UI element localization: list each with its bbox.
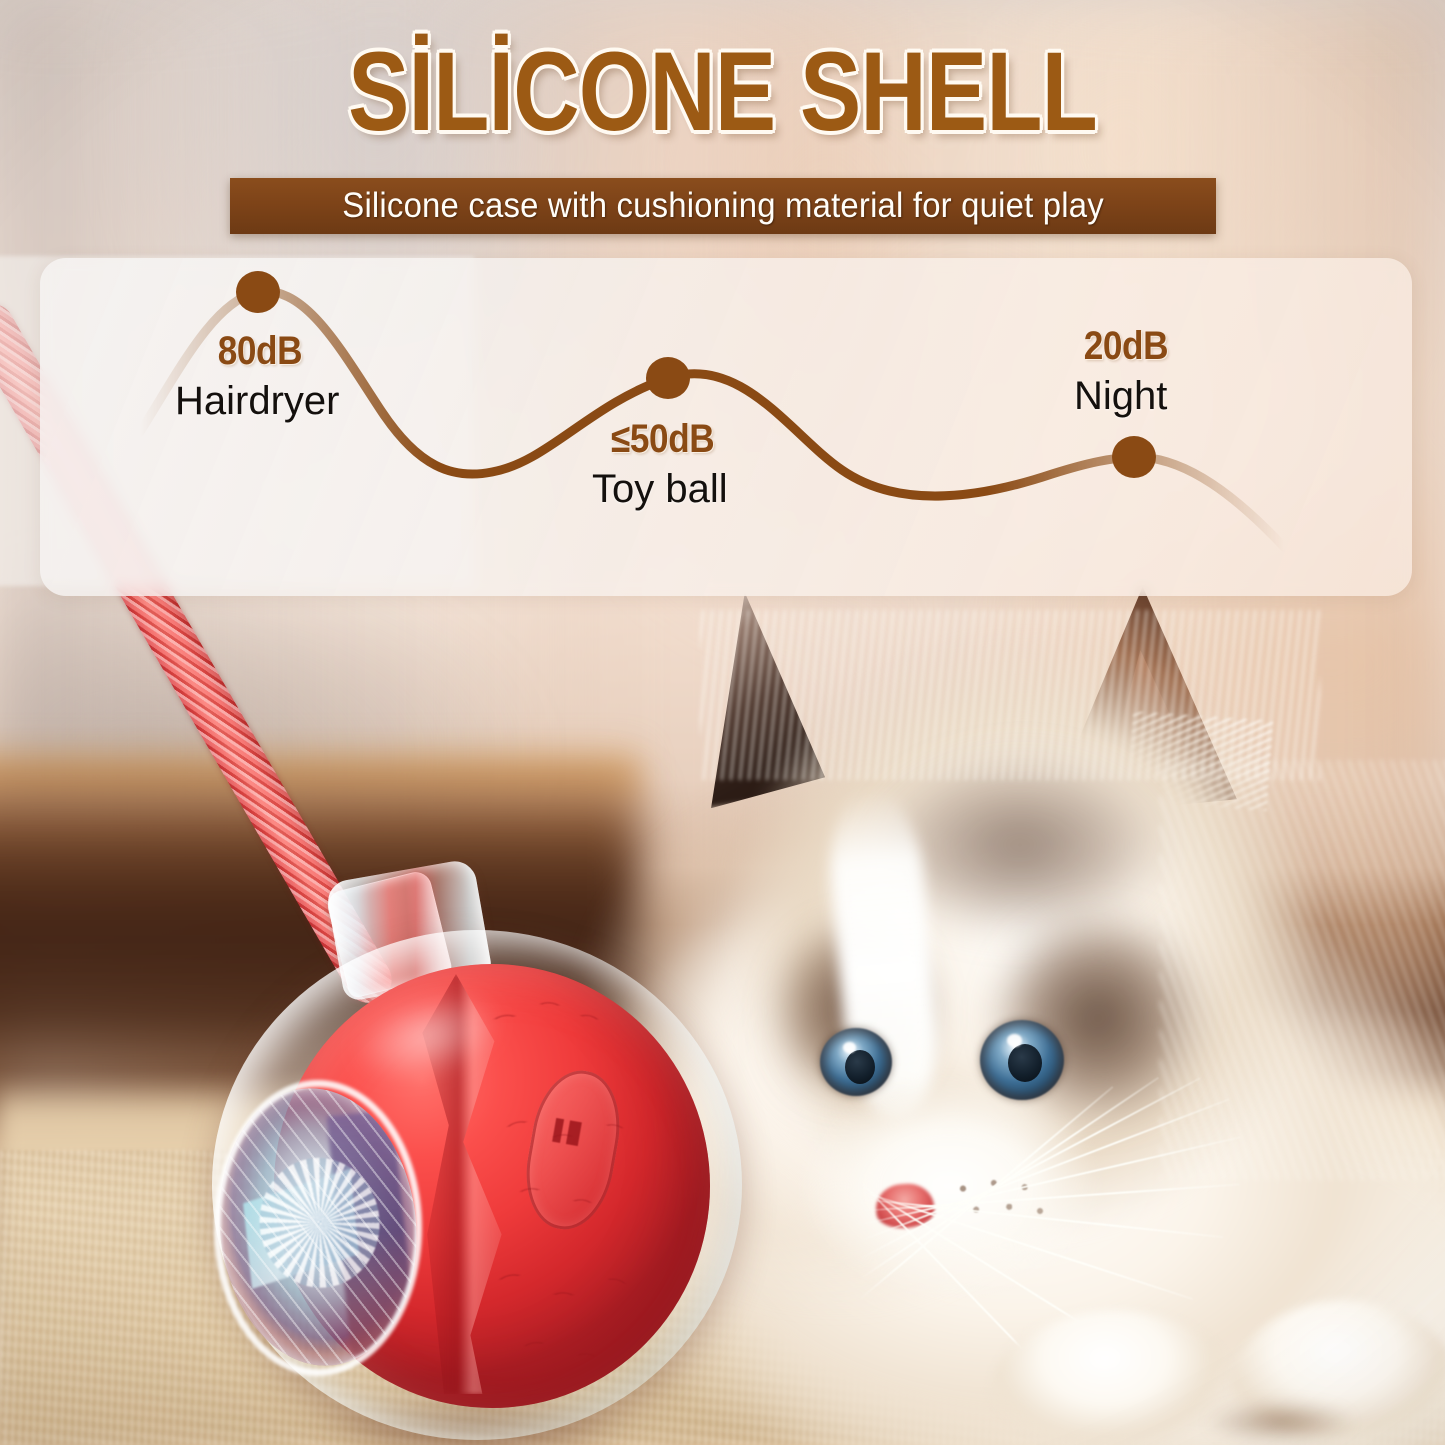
image-vignette <box>0 0 1445 1445</box>
product-feature-image: 80dB Hairdryer ≤50dB Toy ball 20dB Night… <box>0 0 1445 1445</box>
